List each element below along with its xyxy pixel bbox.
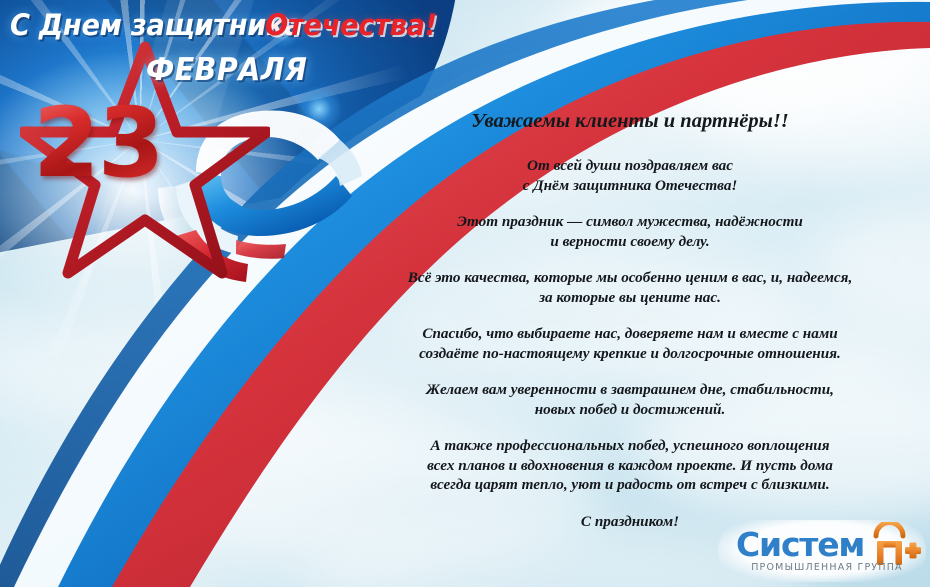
headline-day: 23 [33, 95, 163, 191]
message-body: От всей души поздравляем васс Днём защит… [330, 156, 930, 531]
message-paragraph: Этот праздник — символ мужества, надёжно… [330, 212, 930, 251]
logo-wordmark: Систем [736, 528, 864, 561]
message-paragraph: От всей души поздравляем васс Днём защит… [330, 156, 930, 195]
logo-a-plus-icon [870, 522, 922, 566]
message-paragraph: Желаем вам уверенности в завтрашнем дне,… [330, 380, 930, 419]
message-paragraph: Спасибо, что выбираете нас, доверяете на… [330, 324, 930, 363]
greeting-card: С Днем защитника Отечества! ФЕВРАЛЯ 23 У… [0, 0, 930, 587]
headline-month: ФЕВРАЛЯ [146, 52, 307, 88]
headline-white: С Днем защитника [10, 8, 302, 42]
headline-red: Отечества! [265, 8, 437, 42]
message-title: Уважаемы клиенты и партнёры!! [330, 108, 930, 134]
message-paragraph: Всё это качества, которые мы особенно це… [330, 268, 930, 307]
message-paragraph: А также профессиональных побед, успешног… [330, 436, 930, 495]
greeting-message: Уважаемы клиенты и партнёры!! От всей ду… [330, 108, 930, 531]
company-logo: Систем ПРОМЫШЛЕННАЯ ГРУППА [718, 520, 926, 582]
logo-subtitle: ПРОМЫШЛЕННАЯ ГРУППА [742, 562, 912, 573]
